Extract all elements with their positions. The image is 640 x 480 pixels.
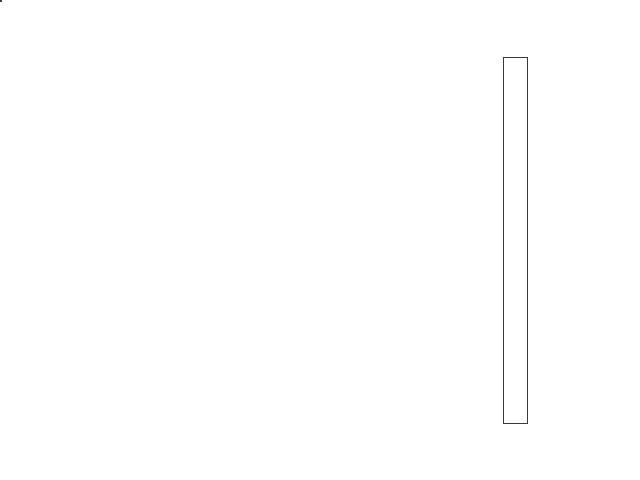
colorbar-gradient bbox=[504, 58, 527, 423]
polar-outer-spine bbox=[0, 0, 2, 2]
figure-canvas bbox=[0, 0, 640, 480]
polar-axes[interactable] bbox=[0, 0, 500, 480]
colorbar[interactable] bbox=[503, 57, 528, 424]
